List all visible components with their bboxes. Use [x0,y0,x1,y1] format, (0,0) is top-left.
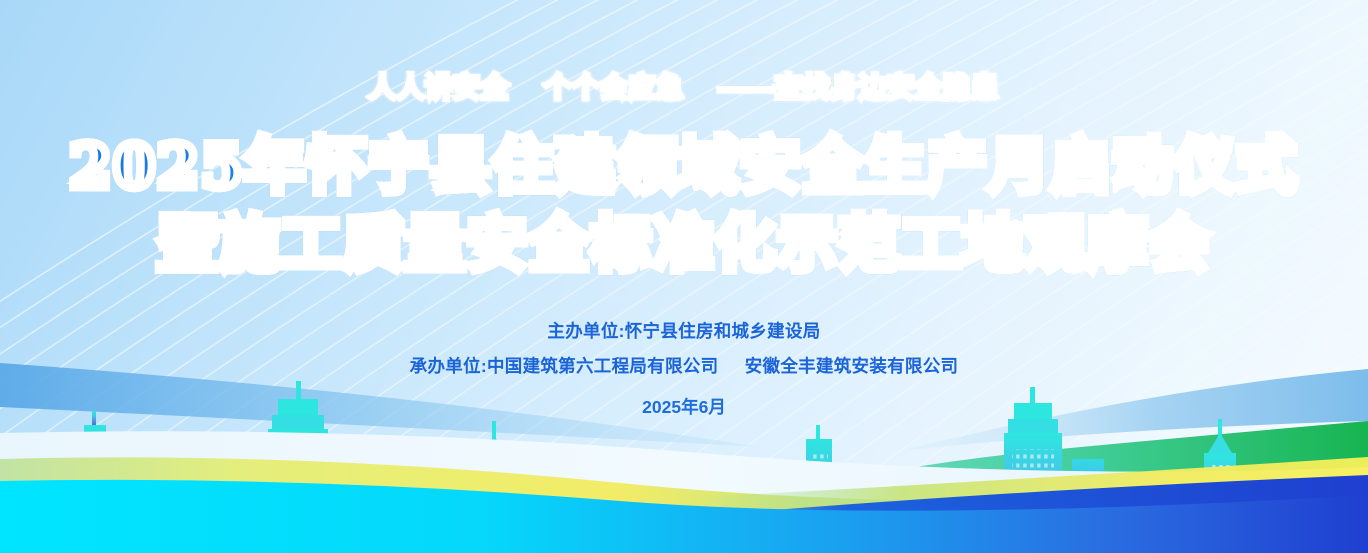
slogan-part-1: 人人讲安全 [369,73,509,103]
main-title-line-1-text: 2025年怀宁县住建领域安全生产月启动仪式 [70,132,1299,202]
slogan-line: 人人讲安全 个个会应急 ——查找身边安全隐患 [0,66,1368,105]
co-organizer-2: 安徽全丰建筑安装有限公司 [745,356,959,376]
host-organization: 主办单位:怀宁县住房和城乡建设局 [0,318,1368,343]
event-date: 2025年6月 [0,394,1368,419]
main-title-line-1: 2025年怀宁县住建领域安全生产月启动仪式 [0,118,1368,205]
event-banner: 人人讲安全 个个会应急 ——查找身边安全隐患 2025年怀宁县住建领域安全生产月… [0,0,1368,553]
main-title-line-2-text: 暨施工质量安全标准化示范工地观摩会 [157,210,1211,280]
main-title-line-2: 暨施工质量安全标准化示范工地观摩会 [0,196,1368,283]
slogan-part-2: 个个会应急 [544,73,684,103]
slogan-part-3: ——查找身边安全隐患 [719,73,999,103]
co-organizers: 承办单位:中国建筑第六工程局有限公司 安徽全丰建筑安装有限公司 [0,353,1368,378]
foreground-wave-ribbons [0,423,1368,553]
co-organizer-1: 承办单位:中国建筑第六工程局有限公司 [410,356,719,376]
